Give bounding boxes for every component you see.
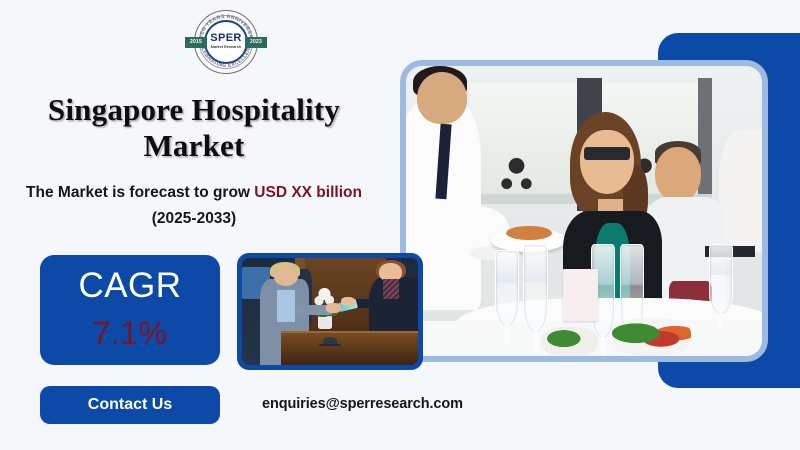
contact-us-button[interactable]: Contact Us	[40, 386, 220, 424]
marketing-poster: SEVEN YEARS ANNIVERSARY CELEBRATING EXCE…	[0, 0, 800, 450]
hotel-reception-photo	[242, 258, 418, 365]
forecast-subtitle-prefix: The Market is forecast to grow	[26, 184, 254, 201]
page-title-line-1: Singapore Hospitality	[18, 92, 370, 128]
badge-brand-name: SPER	[204, 33, 248, 44]
forecast-value-highlight: USD XX billion	[254, 184, 362, 201]
contact-email[interactable]: enquiries@sperresearch.com	[262, 396, 463, 412]
page-title: Singapore Hospitality Market	[18, 92, 370, 164]
badge-year-end: 2023	[245, 37, 267, 48]
main-photo-frame	[400, 60, 768, 362]
page-title-line-2: Market	[18, 128, 370, 164]
secondary-photo-frame	[237, 253, 423, 370]
badge-brand-tagline: Market Research	[204, 45, 248, 49]
forecast-subtitle: The Market is forecast to grow USD XX bi…	[18, 180, 370, 232]
cagr-value: 7.1%	[40, 310, 220, 356]
cagr-label: CAGR	[40, 262, 220, 310]
sper-logo-badge[interactable]: SEVEN YEARS ANNIVERSARY CELEBRATING EXCE…	[185, 8, 267, 82]
cagr-card: CAGR 7.1%	[40, 255, 220, 365]
restaurant-service-photo	[406, 66, 762, 356]
forecast-subtitle-suffix: (2025-2033)	[152, 210, 236, 227]
